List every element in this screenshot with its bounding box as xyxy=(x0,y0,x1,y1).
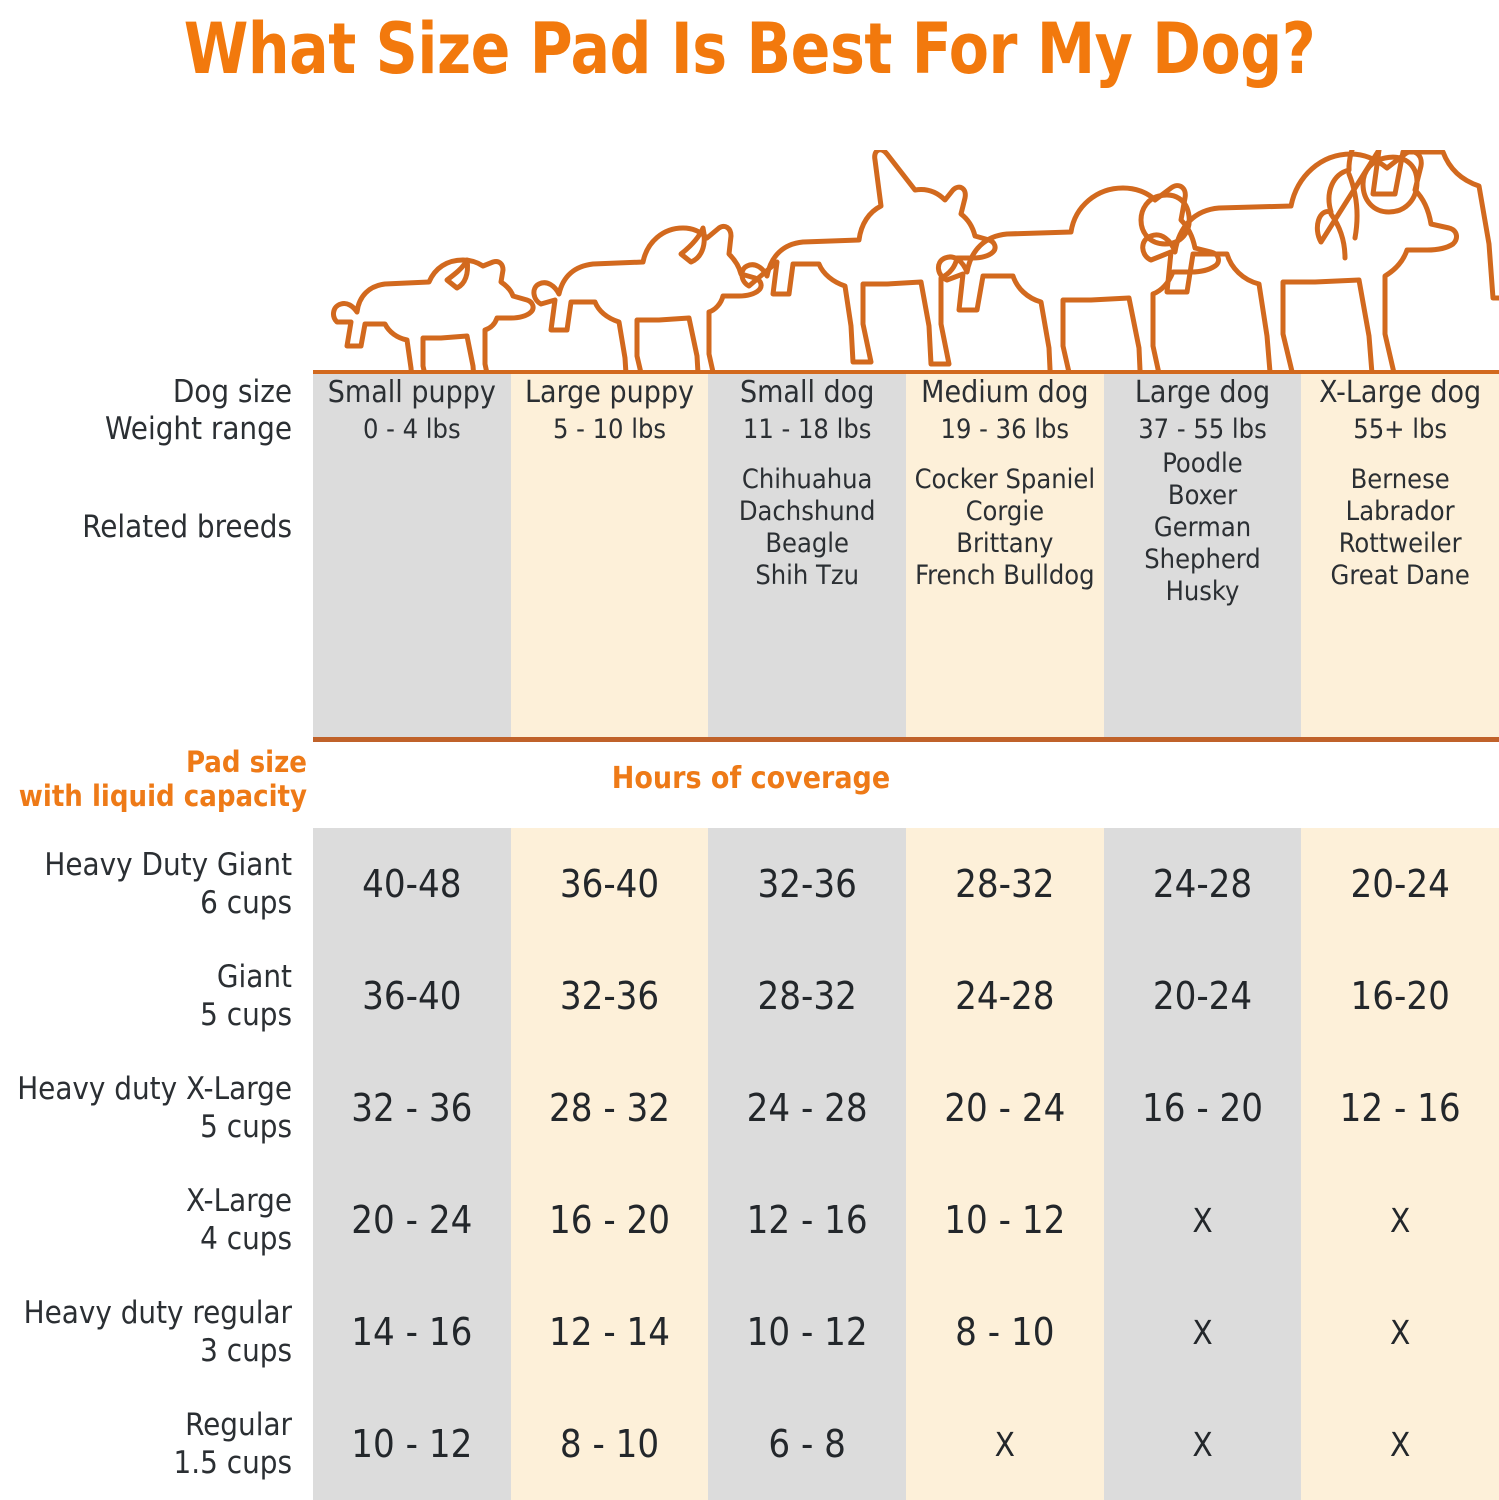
cell-r3-c0: 20 - 24 xyxy=(313,1164,511,1276)
row-label-pad-1: Giant 5 cups xyxy=(0,940,313,1052)
cell-r4-c0: 14 - 16 xyxy=(313,1276,511,1388)
pad-name-1: Giant xyxy=(217,958,292,996)
cell-r2-c3: 20 - 24 xyxy=(906,1052,1104,1164)
breed-name: Labrador xyxy=(1346,496,1455,528)
pad-size-coverage-table: Heavy Duty Giant 6 cups 40-48 36-40 32-3… xyxy=(0,828,1499,1500)
pad-name-4: Heavy duty regular xyxy=(24,1294,292,1332)
row-label-dog-size: Dog size xyxy=(0,374,313,411)
large-dog-icon xyxy=(1143,152,1457,372)
cell-weight-5: 37 - 55 lbs xyxy=(1104,411,1302,448)
breed-name: Dachshund xyxy=(739,496,876,528)
small-puppy-dog-icon xyxy=(334,260,534,372)
cell-r2-c1: 28 - 32 xyxy=(511,1052,709,1164)
breed-name: Rottweiler xyxy=(1339,528,1462,560)
cell-r5-c1: 8 - 10 xyxy=(511,1388,709,1500)
cell-dog-size-3: Small dog xyxy=(708,374,906,411)
medium-dog-icon xyxy=(938,186,1218,372)
cell-breeds-1 xyxy=(313,448,511,607)
cell-breeds-6: BerneseLabradorRottweilerGreat Dane xyxy=(1301,448,1499,607)
cell-r5-c0: 10 - 12 xyxy=(313,1388,511,1500)
large-puppy-dog-icon xyxy=(534,226,761,372)
cell-r5-c3: X xyxy=(906,1388,1104,1500)
pad-size-heading-line2: with liquid capacity xyxy=(19,779,307,813)
cell-r5-c4: X xyxy=(1104,1388,1302,1500)
breed-name: Bernese xyxy=(1351,464,1450,496)
cell-r2-c2: 24 - 28 xyxy=(708,1052,906,1164)
pad-cups-2: 5 cups xyxy=(200,1108,292,1146)
breed-name: Husky xyxy=(1166,576,1240,608)
cell-r0-c0: 40-48 xyxy=(313,828,511,940)
cell-weight-1: 0 - 4 lbs xyxy=(313,411,511,448)
cell-r2-c4: 16 - 20 xyxy=(1104,1052,1302,1164)
row-label-weight-range: Weight range xyxy=(0,411,313,448)
pad-name-0: Heavy Duty Giant xyxy=(44,846,292,884)
pad-cups-5: 1.5 cups xyxy=(174,1444,292,1482)
cell-breeds-4: Cocker SpanielCorgieBrittanyFrench Bulld… xyxy=(906,448,1104,607)
dog-silhouettes-row xyxy=(313,150,1499,372)
cell-r0-c4: 24-28 xyxy=(1104,828,1302,940)
breed-name: Beagle xyxy=(765,528,849,560)
cell-weight-6: 55+ lbs xyxy=(1301,411,1499,448)
cell-r4-c3: 8 - 10 xyxy=(906,1276,1104,1388)
cell-r2-c5: 12 - 16 xyxy=(1301,1052,1499,1164)
breed-name: Corgie xyxy=(966,496,1044,528)
cell-dog-size-6: X-Large dog xyxy=(1301,374,1499,411)
cell-r2-c0: 32 - 36 xyxy=(313,1052,511,1164)
row-label-pad-5: Regular 1.5 cups xyxy=(0,1388,313,1500)
cell-r5-c2: 6 - 8 xyxy=(708,1388,906,1500)
breed-name: Shepherd xyxy=(1144,544,1260,576)
cell-r0-c1: 36-40 xyxy=(511,828,709,940)
cell-r4-c1: 12 - 14 xyxy=(511,1276,709,1388)
dog-size-table: Dog size Small puppy Large puppy Small d… xyxy=(0,374,1499,608)
cell-weight-4: 19 - 36 lbs xyxy=(906,411,1104,448)
cell-r4-c5: X xyxy=(1301,1276,1499,1388)
x-large-dog-icon xyxy=(1317,150,1499,300)
row-label-related-breeds: Related breeds xyxy=(0,448,313,607)
breed-name: German xyxy=(1154,512,1251,544)
breed-name: Cocker Spaniel xyxy=(915,464,1096,496)
hours-of-coverage-heading: Hours of coverage xyxy=(313,762,1499,796)
pad-name-2: Heavy duty X-Large xyxy=(17,1070,292,1108)
breed-name: Brittany xyxy=(956,528,1053,560)
pad-size-heading-line1: Pad size xyxy=(186,745,307,779)
breeds-separator-rule xyxy=(313,737,1499,742)
cell-r1-c1: 32-36 xyxy=(511,940,709,1052)
row-label-pad-4: Heavy duty regular 3 cups xyxy=(0,1276,313,1388)
pad-name-5: Regular xyxy=(185,1406,292,1444)
cell-breeds-2 xyxy=(511,448,709,607)
cell-r4-c4: X xyxy=(1104,1276,1302,1388)
breed-name: Chihuahua xyxy=(742,464,872,496)
breed-name: Boxer xyxy=(1168,480,1237,512)
cell-r3-c5: X xyxy=(1301,1164,1499,1276)
cell-breeds-3: ChihuahuaDachshundBeagleShih Tzu xyxy=(708,448,906,607)
breed-name: French Bulldog xyxy=(915,560,1094,592)
cell-dog-size-5: Large dog xyxy=(1104,374,1302,411)
pad-name-3: X-Large xyxy=(186,1182,292,1220)
cell-weight-3: 11 - 18 lbs xyxy=(708,411,906,448)
cell-r3-c4: X xyxy=(1104,1164,1302,1276)
page-title: What Size Pad Is Best For My Dog? xyxy=(52,6,1446,92)
cell-r1-c5: 16-20 xyxy=(1301,940,1499,1052)
breed-name: Shih Tzu xyxy=(755,560,859,592)
pad-cups-3: 4 cups xyxy=(200,1220,292,1258)
breed-name: Poodle xyxy=(1162,448,1243,480)
breed-name: Great Dane xyxy=(1331,560,1470,592)
cell-r3-c1: 16 - 20 xyxy=(511,1164,709,1276)
cell-r1-c3: 24-28 xyxy=(906,940,1104,1052)
cell-r5-c5: X xyxy=(1301,1388,1499,1500)
row-label-pad-2: Heavy duty X-Large 5 cups xyxy=(0,1052,313,1164)
pad-cups-0: 6 cups xyxy=(200,884,292,922)
cell-dog-size-4: Medium dog xyxy=(906,374,1104,411)
infographic-page: What Size Pad Is Best For My Dog? xyxy=(0,0,1499,1500)
cell-r3-c3: 10 - 12 xyxy=(906,1164,1104,1276)
cell-r4-c2: 10 - 12 xyxy=(708,1276,906,1388)
cell-dog-size-1: Small puppy xyxy=(313,374,511,411)
cell-r0-c2: 32-36 xyxy=(708,828,906,940)
pad-cups-4: 3 cups xyxy=(200,1332,292,1370)
cell-r0-c3: 28-32 xyxy=(906,828,1104,940)
cell-r0-c5: 20-24 xyxy=(1301,828,1499,940)
cell-r3-c2: 12 - 16 xyxy=(708,1164,906,1276)
row-label-pad-3: X-Large 4 cups xyxy=(0,1164,313,1276)
cell-r1-c0: 36-40 xyxy=(313,940,511,1052)
cell-r1-c4: 20-24 xyxy=(1104,940,1302,1052)
pad-size-heading: Pad size with liquid capacity xyxy=(0,745,307,813)
row-label-pad-0: Heavy Duty Giant 6 cups xyxy=(0,828,313,940)
cell-r1-c2: 28-32 xyxy=(708,940,906,1052)
pad-cups-1: 5 cups xyxy=(200,996,292,1034)
cell-breeds-5: PoodleBoxerGermanShepherdHusky xyxy=(1104,448,1302,607)
cell-weight-2: 5 - 10 lbs xyxy=(511,411,709,448)
cell-dog-size-2: Large puppy xyxy=(511,374,709,411)
